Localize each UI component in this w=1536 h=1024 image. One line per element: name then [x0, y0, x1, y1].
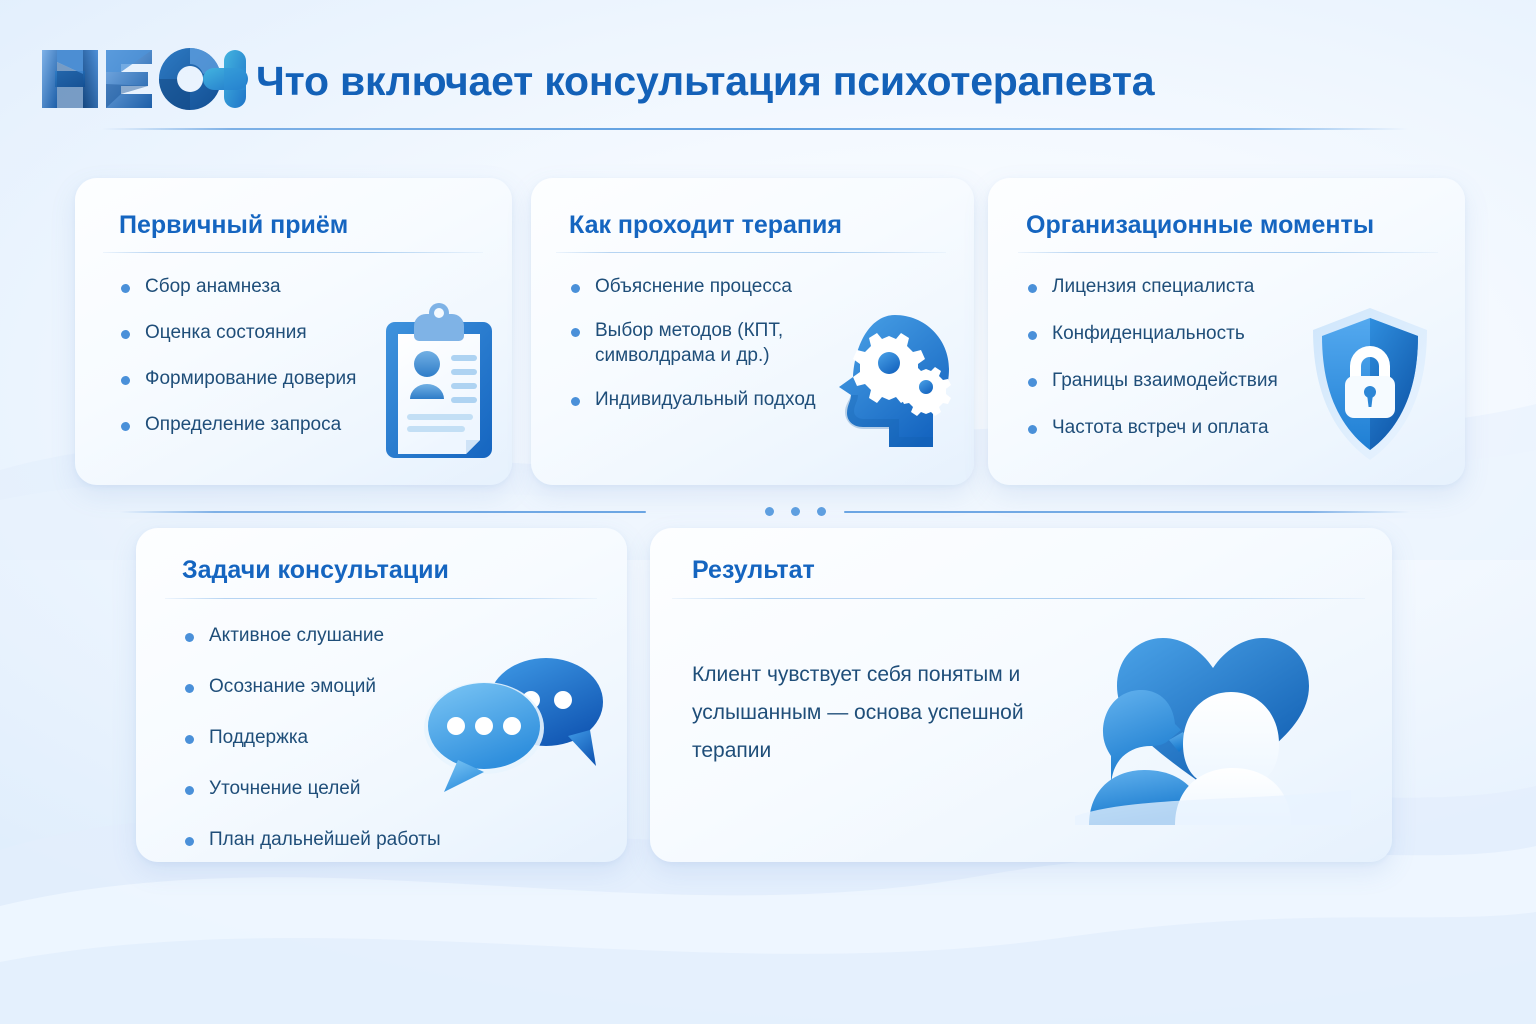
list-item: Формирование доверия [119, 366, 419, 391]
list-item: План дальнейшей работы [183, 827, 513, 852]
card-result-title: Результат [692, 556, 815, 585]
logo-letter-n [42, 50, 98, 108]
list-item: Частота встреч и оплата [1026, 415, 1336, 440]
card-tasks-title: Задачи консультации [182, 556, 449, 585]
card-therapy: Как проходит терапия Объяснение процесса… [531, 178, 974, 485]
card-result-divider [672, 598, 1365, 599]
row-divider [120, 505, 1410, 519]
list-item: Определение запроса [119, 412, 419, 437]
logo-letter-e [106, 50, 152, 108]
list-item: Осознание эмоций [183, 674, 513, 699]
card-tasks-bullet-list: Активное слушание Осознание эмоций Подде… [183, 623, 513, 862]
list-item: Уточнение целей [183, 776, 513, 801]
card-therapy-divider [556, 252, 946, 253]
list-item: Поддержка [183, 725, 513, 750]
card-intake-bullet-list: Сбор анамнеза Оценка состояния Формирова… [119, 274, 419, 458]
person-silhouette-left [1089, 690, 1197, 825]
card-therapy-title: Как проходит терапия [569, 211, 842, 240]
list-item: Сбор анамнеза [119, 274, 419, 299]
person-silhouette-right [1175, 692, 1291, 825]
neo-plus-logo [38, 44, 250, 116]
card-result-body-text: Клиент чувствует себя понятым и услышанн… [692, 656, 1102, 771]
header-divider [102, 128, 1408, 130]
infographic-canvas: Что включает консультация психотерапевта… [0, 0, 1536, 1024]
list-item: Конфиденциальность [1026, 321, 1336, 346]
divider-dot [817, 507, 826, 516]
list-item: Объяснение процесса [569, 274, 864, 299]
card-result: Результат Клиент чувствует себя понятым … [650, 528, 1392, 862]
card-therapy-bullet-list: Объяснение процесса Выбор методов (КПТ, … [569, 274, 864, 431]
list-item: Выбор методов (КПТ, символдрама и др.) [569, 318, 864, 368]
card-intake: Первичный приём Сбор анамнеза Оценка сос… [75, 178, 512, 485]
list-item: Границы взаимодействия [1026, 368, 1336, 393]
card-tasks: Задачи консультации Активное слушание Ос… [136, 528, 627, 862]
card-org-title: Организационные моменты [1026, 211, 1374, 240]
list-item: Активное слушание [183, 623, 513, 648]
list-item: Оценка состояния [119, 320, 419, 345]
card-org-divider [1018, 252, 1438, 253]
divider-dot [765, 507, 774, 516]
divider-dot [791, 507, 800, 516]
card-intake-divider [103, 252, 483, 253]
card-org-bullet-list: Лицензия специалиста Конфиденциальность … [1026, 274, 1336, 462]
card-tasks-divider [165, 598, 597, 599]
card-org: Организационные моменты Лицензия специал… [988, 178, 1465, 485]
page-header: Что включает консультация психотерапевта [0, 0, 1536, 140]
page-title: Что включает консультация психотерапевта [256, 58, 1154, 105]
card-intake-title: Первичный приём [119, 211, 348, 240]
list-item: Индивидуальный подход [569, 387, 864, 412]
list-item: Лицензия специалиста [1026, 274, 1336, 299]
heart-people-icon [1075, 620, 1351, 825]
